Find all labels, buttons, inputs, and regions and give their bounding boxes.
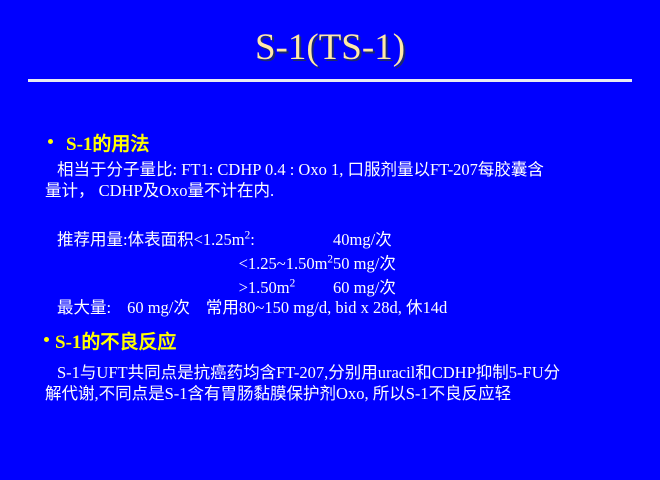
bullet-dot-icon [48,139,53,144]
bsa-value: 体表面积<1.25m [128,230,245,249]
bsa-value: <1.25~1.50m [239,254,328,273]
dose-table: 推荐用量: 体表面积<1.25m2: 40mg/次 <1.25~1.50m2 5… [57,228,396,300]
bsa-value: >1.50m [239,278,290,297]
bsa-suffix: : [250,230,255,249]
adverse-paragraph-line-1: S-1与UFT共同点是抗癌药均含FT-207,分别用uracil和CDHP抑制5… [57,362,560,383]
table-row: <1.25~1.50m2 50 mg/次 [57,252,396,276]
section-heading-usage: S-1的用法 [48,133,149,156]
usual-dose-value: 常用80~150 mg/d, bid x 28d, 休14d [206,298,447,317]
dose-table-row-label: 推荐用量: [57,228,128,252]
section-heading-usage-label: S-1的用法 [66,134,149,155]
dose-table-bsa-cell: <1.25~1.50m2 [128,252,333,276]
dose-table-dose-cell: 50 mg/次 [333,252,396,276]
usage-paragraph-line-2: 量计， CDHP及Oxo量不计在内. [45,180,274,201]
bullet-dot-icon [44,337,49,342]
title-divider [28,79,632,82]
max-dose-line: 最大量:60 mg/次常用80~150 mg/d, bid x 28d, 休14… [57,297,447,318]
slide-canvas: S-1(TS-1) S-1的用法 相当于分子量比: FT1: CDHP 0.4 … [0,0,660,480]
dose-table-grid: 推荐用量: 体表面积<1.25m2: 40mg/次 <1.25~1.50m2 5… [57,228,396,300]
dose-table-row-label-empty [57,252,128,276]
bsa-superscript: 2 [290,278,296,290]
dose-table-bsa-cell: 体表面积<1.25m2: [128,228,333,252]
table-row: 推荐用量: 体表面积<1.25m2: 40mg/次 [57,228,396,252]
dose-table-dose-cell: 40mg/次 [333,228,396,252]
max-dose-value: 60 mg/次 [127,298,190,317]
page-title: S-1(TS-1) [0,26,660,70]
usage-paragraph-line-1: 相当于分子量比: FT1: CDHP 0.4 : Oxo 1, 口服剂量以FT-… [57,159,544,180]
max-dose-label: 最大量: [57,298,111,317]
adverse-paragraph-line-2: 解代谢,不同点是S-1含有胃肠黏膜保护剂Oxo, 所以S-1不良反应轻 [45,383,511,404]
section-heading-adverse-label: S-1的不良反应 [55,332,176,353]
section-heading-adverse: S-1的不良反应 [44,331,176,354]
